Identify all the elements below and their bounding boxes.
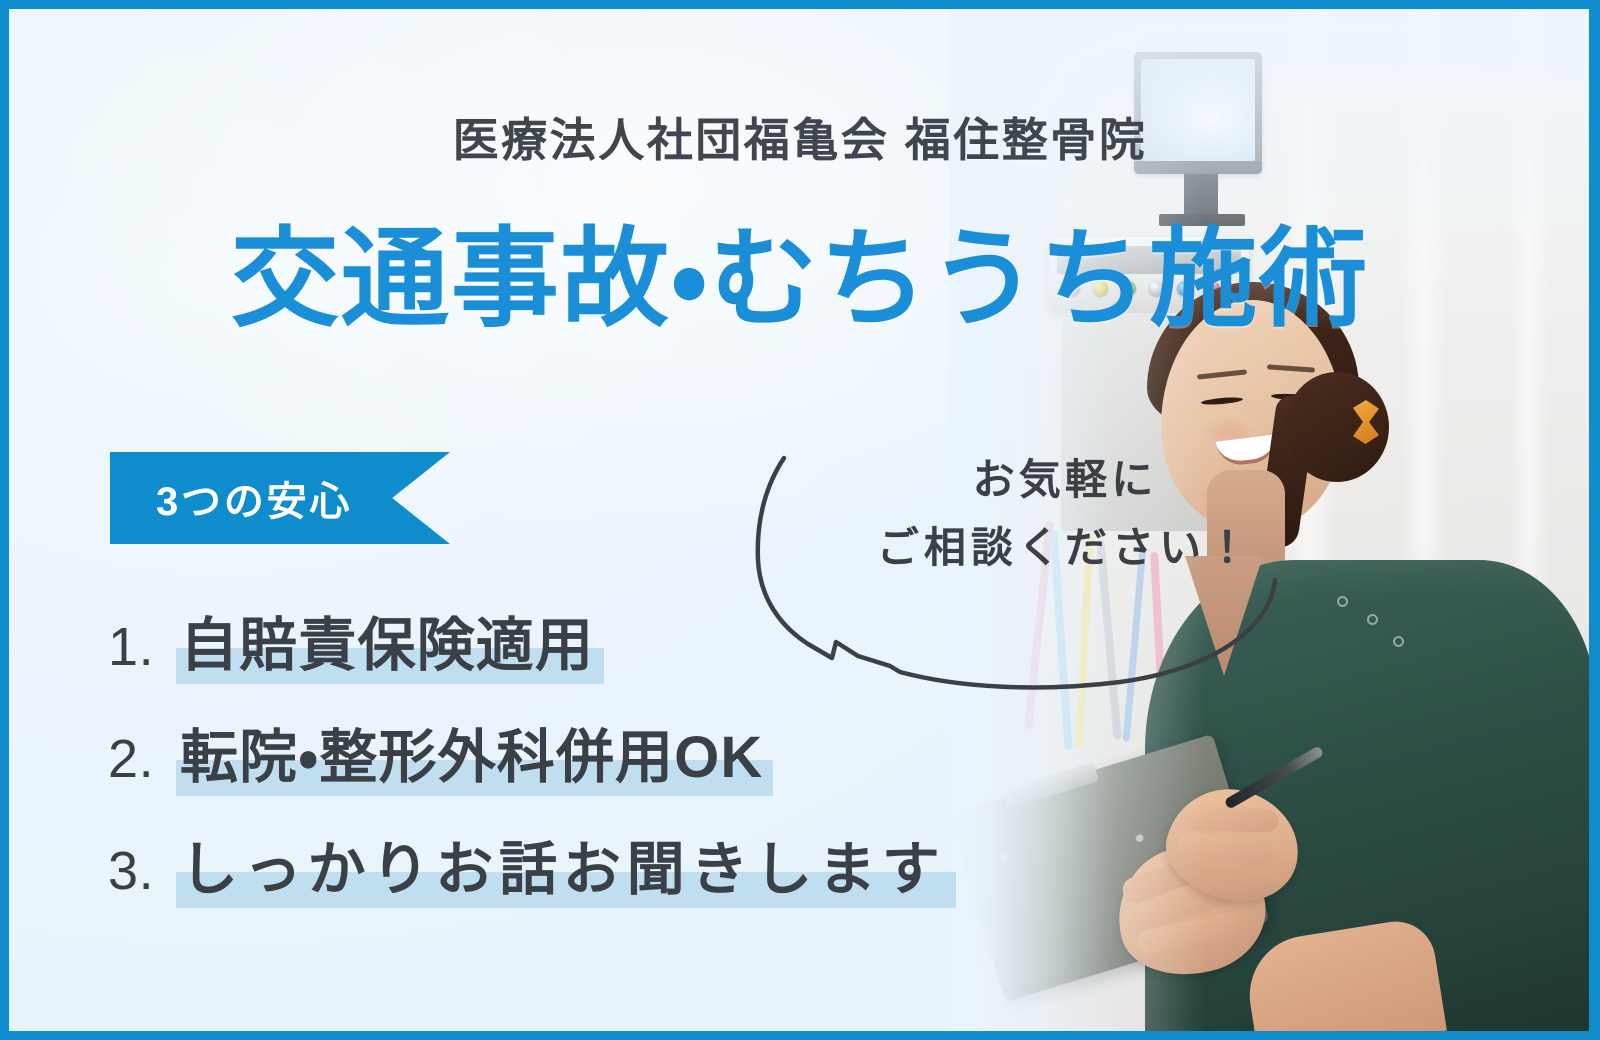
organization-name: 医療法人社団福亀会 福住整骨院 [0,104,1600,170]
list-item-label: しっかりお話お聞きします [180,837,946,902]
finger [1186,806,1279,833]
ribbon-label: 3つの安心 [110,469,352,527]
bubble-line-1: お気軽に [830,446,1300,514]
list-item-number: 3. [108,840,180,902]
frame-border-left [0,0,9,1040]
page-title: 交通事故・むちうち施術 [0,215,1600,342]
list-item: 2. 転院・整形外科併用OK [108,710,1068,822]
clipboard-rivet [1134,833,1144,843]
speech-bubble: お気軽に ご相談ください！ [740,420,1300,700]
finger [1177,831,1275,867]
bubble-line-2: ご相談ください！ [830,514,1300,582]
list-item-text-wrap: 自賠責保険適用 [180,598,594,682]
list-item-label: 転院・整形外科併用OK [180,725,763,790]
list-item-number: 1. [108,616,180,678]
frame-border-top [0,0,1600,9]
three-points-ribbon: 3つの安心 [110,452,450,544]
frame-border-bottom [0,1031,1600,1040]
monitor-stand-neck [1184,174,1218,218]
list-item: 3. しっかりお話お聞きします [108,822,1068,934]
clinic-banner: 医療法人社団福亀会 福住整骨院 交通事故・むちうち施術 3つの安心 1. 自賠責… [0,0,1600,1040]
scrub-shoulder-detail [1337,596,1348,607]
scrub-shoulder-detail [1367,614,1378,625]
hair-bun [1285,372,1389,482]
list-item-text-wrap: しっかりお話お聞きします [180,822,946,906]
list-item-number: 2. [108,728,180,790]
list-item-text-wrap: 転院・整形外科併用OK [180,710,763,794]
scrub-shoulder-detail [1393,636,1404,647]
frame-border-right [1589,0,1600,1040]
bubble-text: お気軽に ご相談ください！ [830,446,1300,582]
list-item-label: 自賠責保険適用 [180,613,594,678]
